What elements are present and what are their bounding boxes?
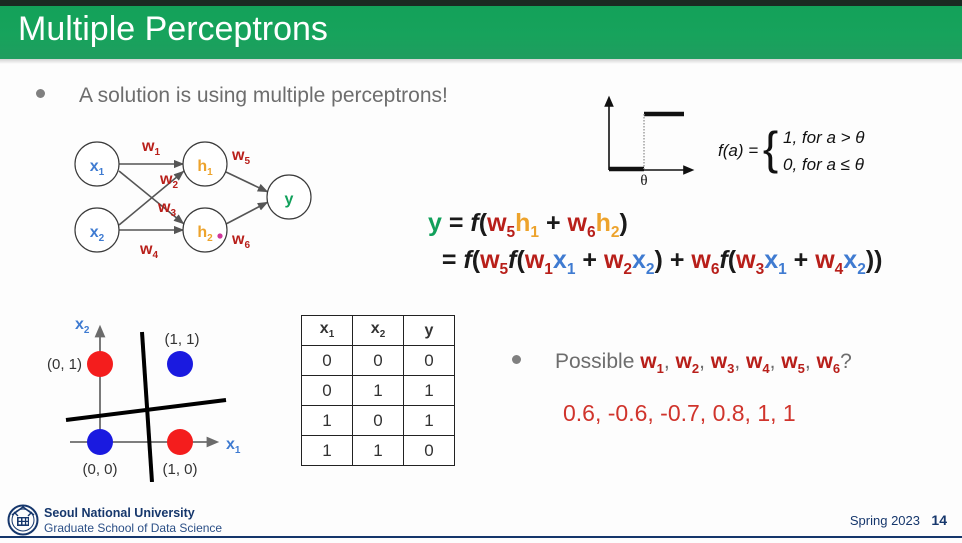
step-threshold-label: θ xyxy=(640,173,647,187)
footer-term: Spring 2023 xyxy=(850,513,920,528)
equation-line-2: = f(w5f(w1x1 + w2x2) + w6f(w3x1 + w4x2)) xyxy=(428,243,882,280)
edge-h1-y xyxy=(226,172,268,192)
scatter-label-1-1: (1, 1) xyxy=(164,331,199,348)
cell-x2: 1 xyxy=(353,376,404,406)
decision-boundary-2 xyxy=(142,332,152,482)
edge-label-w3: w3 xyxy=(157,199,176,219)
xor-scatter-plot: (0, 1) (1, 1) (0, 0) (1, 0) x2 x1 xyxy=(30,302,280,482)
question-prefix: Possible xyxy=(555,350,640,373)
page-title: Multiple Perceptrons xyxy=(18,10,328,49)
table-header-y: y xyxy=(404,316,455,346)
node-y-label: y xyxy=(285,191,294,208)
edge-label-w2: w2 xyxy=(159,171,178,191)
edge-label-w4: w4 xyxy=(139,241,158,261)
cell-x1: 1 xyxy=(302,436,353,466)
footer-page-number: 14 xyxy=(931,512,947,528)
cell-y: 0 xyxy=(404,346,455,376)
footer-school-name: Graduate School of Data Science xyxy=(44,521,222,535)
cell-x2: 0 xyxy=(353,346,404,376)
slide: Multiple Perceptrons A solution is using… xyxy=(0,0,962,543)
scatter-x-axis-label: x1 xyxy=(226,436,241,456)
footer-divider xyxy=(0,536,962,538)
cell-x1: 1 xyxy=(302,406,353,436)
edge-label-w6: w6 xyxy=(231,231,250,251)
bullet-text-solution: A solution is using multiple perceptrons… xyxy=(79,84,448,108)
cursor-dot-icon xyxy=(217,233,222,238)
cell-x2: 1 xyxy=(353,436,404,466)
snu-crest-logo-icon xyxy=(6,503,40,537)
bullet-item-solution: A solution is using multiple perceptrons… xyxy=(36,84,448,108)
xor-truth-table: x1 x2 y 0 0 0 0 1 1 1 0 1 1 1 xyxy=(301,315,455,466)
table-row: 0 0 0 xyxy=(302,346,455,376)
step-case-2: 0, for a ≤ θ xyxy=(783,152,865,178)
question-text: Possible w1, w2, w3, w4, w5, w6? xyxy=(555,350,852,376)
table-row: 1 1 0 xyxy=(302,436,455,466)
scatter-label-1-0: (1, 0) xyxy=(162,461,197,478)
scatter-point-1-1 xyxy=(167,351,193,377)
bullet-dot-icon xyxy=(512,355,521,364)
bullet-dot-icon xyxy=(36,89,45,98)
table-row: 1 0 1 xyxy=(302,406,455,436)
step-function-plot: θ xyxy=(596,92,706,187)
footer-university-name: Seoul National University xyxy=(44,506,195,520)
step-case-1: 1, for a > θ xyxy=(783,125,865,151)
step-fn-label: f(a) = xyxy=(718,141,758,160)
edge-label-w5: w5 xyxy=(231,147,250,167)
cell-y: 1 xyxy=(404,406,455,436)
scatter-label-0-0: (0, 0) xyxy=(82,461,117,478)
equation-line-1: y = f(w5h1 + w6h2) xyxy=(428,206,882,243)
edge-h2-y xyxy=(226,202,268,224)
cell-y: 1 xyxy=(404,376,455,406)
table-header-x1: x1 xyxy=(302,316,353,346)
cell-x1: 0 xyxy=(302,376,353,406)
neural-network-diagram: x1 x2 h1 h2 y w1 w2 w3 w4 w5 w6 xyxy=(72,132,322,262)
cell-x1: 0 xyxy=(302,346,353,376)
brace-icon: { xyxy=(763,122,778,174)
weights-answer: 0.6, -0.6, -0.7, 0.8, 1, 1 xyxy=(563,400,796,427)
cell-x2: 0 xyxy=(353,406,404,436)
output-equation: y = f(w5h1 + w6h2) = f(w5f(w1x1 + w2x2) … xyxy=(428,206,882,280)
step-function-formula: f(a) = { 1, for a > θ 0, for a ≤ θ xyxy=(718,122,865,178)
scatter-point-1-0 xyxy=(167,429,193,455)
table-row: 0 1 1 xyxy=(302,376,455,406)
bullet-item-possible-weights: Possible w1, w2, w3, w4, w5, w6? xyxy=(512,350,852,376)
cell-y: 0 xyxy=(404,436,455,466)
scatter-point-0-1 xyxy=(87,351,113,377)
title-bar-shadow xyxy=(0,59,962,64)
table-header-row: x1 x2 y xyxy=(302,316,455,346)
scatter-y-axis-label: x2 xyxy=(75,316,90,336)
scatter-label-0-1: (0, 1) xyxy=(47,356,82,373)
scatter-point-0-0 xyxy=(87,429,113,455)
edge-label-w1: w1 xyxy=(141,138,160,158)
table-header-x2: x2 xyxy=(353,316,404,346)
